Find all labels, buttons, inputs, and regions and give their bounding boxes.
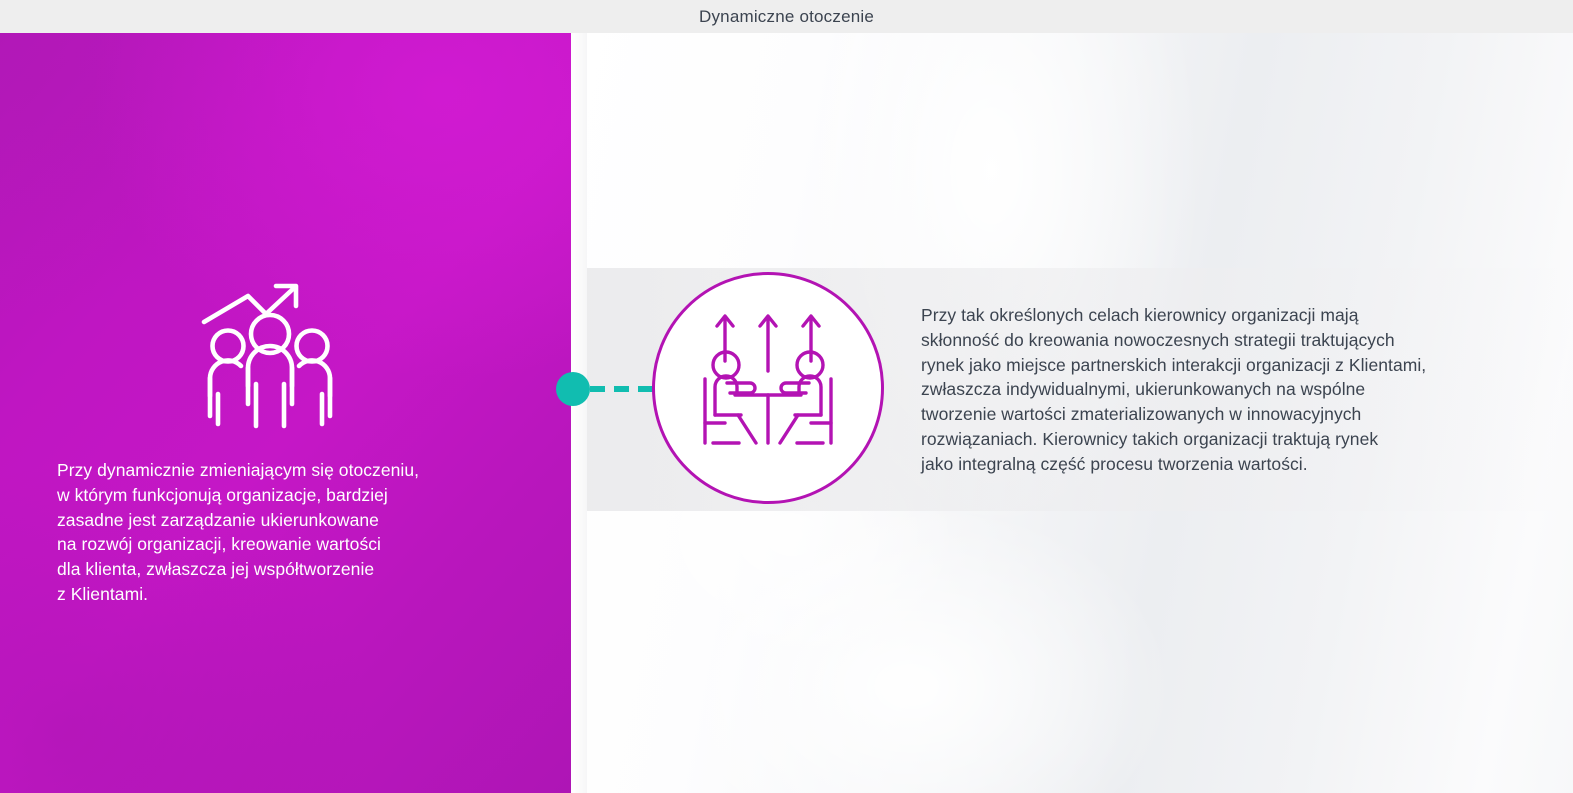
header-bar: Dynamiczne otoczenie	[0, 0, 1573, 33]
left-panel-paragraph: Przy dynamicznie zmieniającym się otocze…	[57, 458, 527, 607]
slide-canvas: Dynamiczne otoczenie	[0, 0, 1573, 793]
page-title: Dynamiczne otoczenie	[0, 0, 1573, 33]
meeting-table-arrows-icon	[652, 272, 884, 504]
left-magenta-panel: Przy dynamicznie zmieniającym się otocze…	[0, 33, 571, 793]
people-growth-icon	[190, 276, 350, 436]
panel-edge-highlight	[571, 33, 587, 793]
teal-node-dot	[556, 372, 590, 406]
right-panel-paragraph: Przy tak określonych celach kierownicy o…	[921, 303, 1521, 477]
